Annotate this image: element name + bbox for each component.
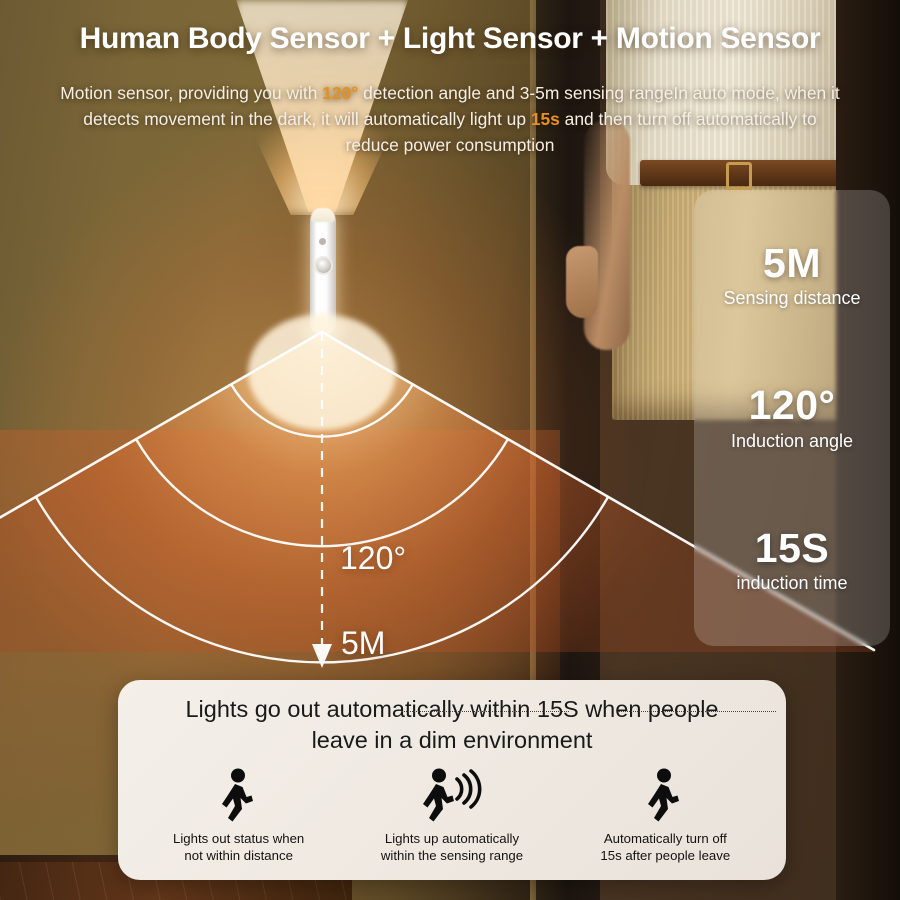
walking-person-sensing-icon [345,766,558,828]
step-caption: Automatically turn off 15s after people … [559,830,772,864]
subtitle-text-1: Motion sensor, providing you with [60,83,322,103]
stat-value: 5M [694,242,890,285]
step-lights-out: Lights out status when not within distan… [132,766,345,864]
subtitle-highlight-time: 15s [531,109,560,129]
step-caption-line-1: Lights up automatically [345,830,558,847]
stat-induction-angle: 120° Induction angle [694,384,890,451]
walking-person-icon [132,766,345,828]
cone-angle-label: 120° [340,540,406,577]
step-caption: Lights out status when not within distan… [132,830,345,864]
person-belt-buckle [726,162,752,190]
product-infographic: 120° 5M Human Body Sensor + Light Sensor… [0,0,900,900]
stat-value: 120° [694,384,890,427]
subtitle-highlight-angle: 120° [322,83,358,103]
device-power-button-icon [319,238,326,245]
step-caption: Lights up automatically within the sensi… [345,830,558,864]
stat-label: Sensing distance [694,288,890,309]
info-heading-line-2: leave in a dim environment [140,725,764,756]
step-list: Lights out status when not within distan… [118,766,786,864]
stat-value: 15S [694,527,890,570]
auto-off-info-card: Lights go out automatically within 15S w… [118,680,786,880]
step-connector-2 [618,711,776,712]
stat-induction-time: 15S induction time [694,527,890,594]
step-lights-up: Lights up automatically within the sensi… [345,766,558,864]
page-title: Human Body Sensor + Light Sensor + Motio… [0,22,900,56]
cone-distance-label: 5M [341,625,385,662]
spec-stats-panel: 5M Sensing distance 120° Induction angle… [694,190,890,646]
step-caption-line-2: within the sensing range [345,847,558,864]
info-heading-line-1: Lights go out automatically within 15S w… [140,694,764,725]
step-connector-1 [401,711,569,712]
step-caption-line-1: Automatically turn off [559,830,772,847]
device-top-cap [311,208,335,222]
stat-label: Induction angle [694,431,890,452]
downward-light-source-glow [296,322,350,348]
step-caption-line-2: not within distance [132,847,345,864]
step-caption-line-2: 15s after people leave [559,847,772,864]
walking-person-icon [559,766,772,828]
stat-sensing-distance: 5M Sensing distance [694,242,890,309]
step-auto-off: Automatically turn off 15s after people … [559,766,772,864]
page-subtitle: Motion sensor, providing you with 120° d… [60,80,840,158]
step-caption-line-1: Lights out status when [132,830,345,847]
pir-lens-icon [316,258,331,273]
stat-label: induction time [694,573,890,594]
info-card-heading: Lights go out automatically within 15S w… [118,680,786,756]
